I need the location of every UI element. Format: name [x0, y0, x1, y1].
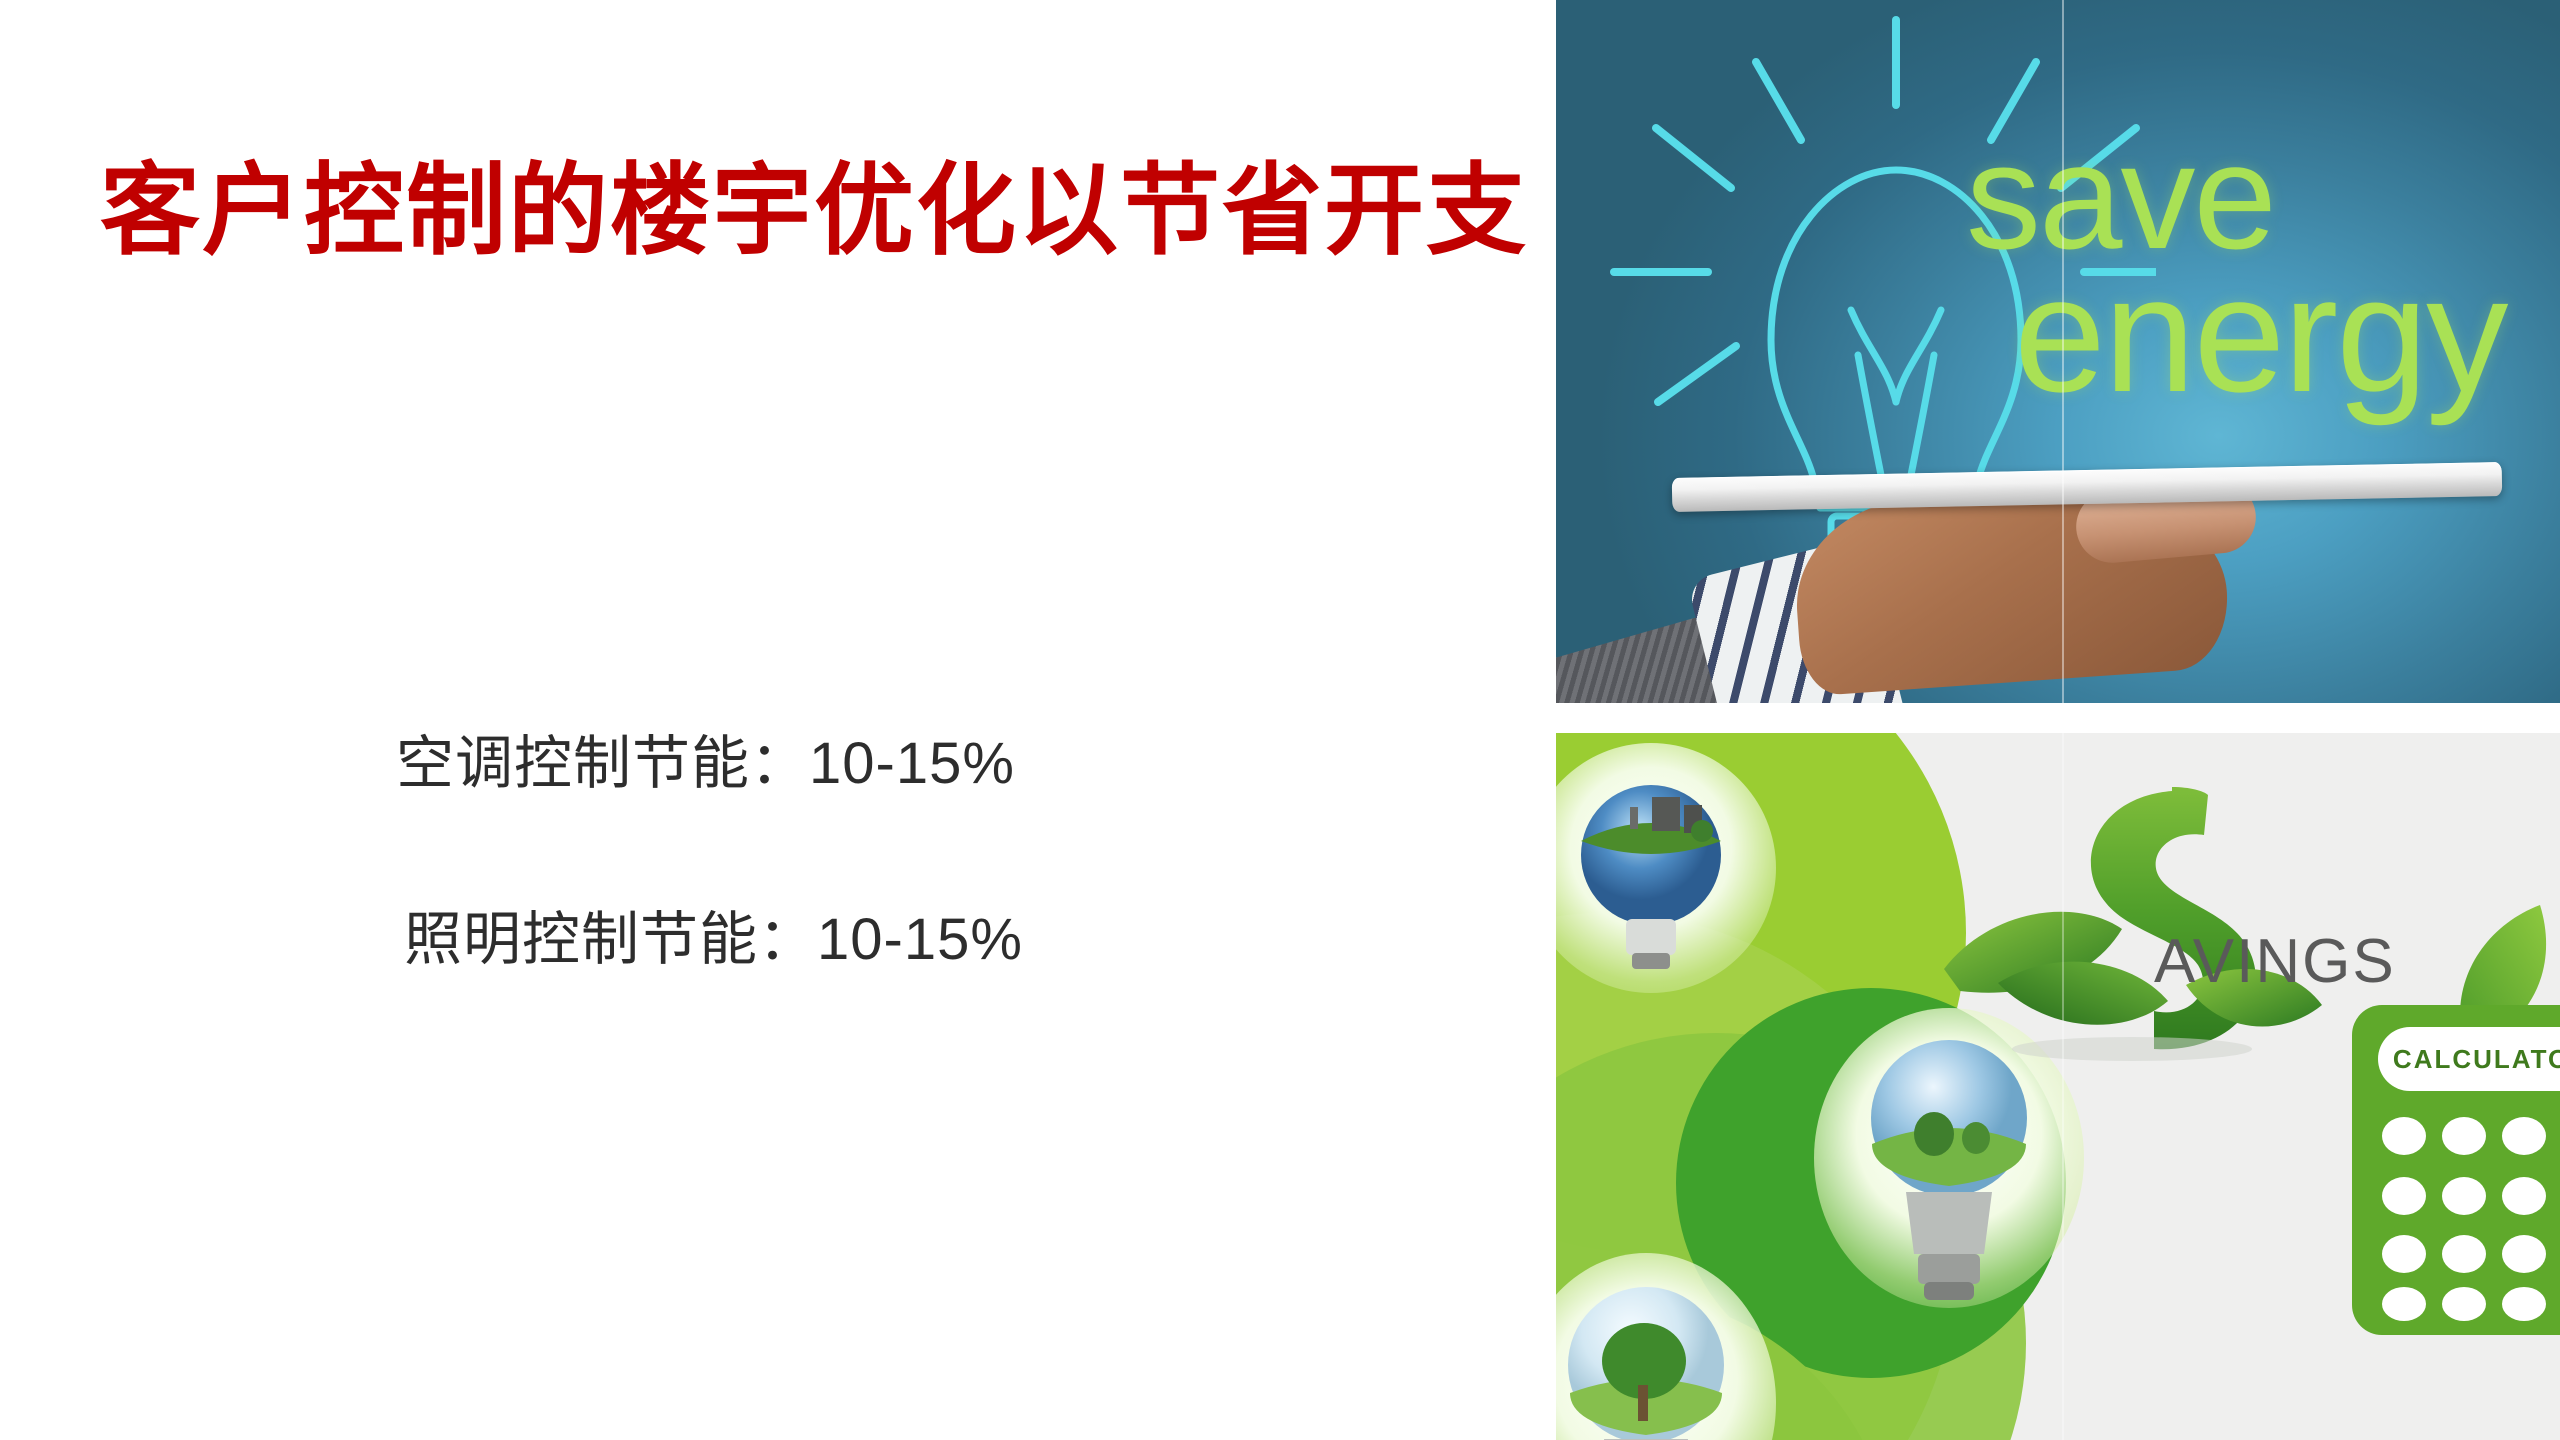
savings-wordmark: AVINGS — [2154, 926, 2396, 997]
calculator-key — [2382, 1177, 2426, 1215]
calculator-key — [2442, 1117, 2486, 1155]
calculator-key — [2442, 1177, 2486, 1215]
body-line-lighting-saving: 照明控制节能：10-15% — [404, 911, 1480, 969]
save-energy-tablet-photo: save energy — [1556, 0, 2560, 703]
calculator-icon: CALCULATOR — [2352, 1005, 2560, 1335]
page-title: 客户控制的楼宇优化以节省开支 — [100, 150, 1500, 272]
body-text-block: 空调控制节能：10-15% 照明控制节能：10-15% — [330, 735, 1480, 969]
calculator-key — [2442, 1287, 2486, 1321]
eco-bulb-earth — [1556, 743, 1776, 993]
calculator-key — [2442, 1235, 2486, 1273]
calculator-key — [2502, 1117, 2546, 1155]
eco-bulb-tree — [1556, 1253, 1776, 1440]
calculator-screen: CALCULATOR — [2378, 1027, 2560, 1091]
dollar-leaves-icon — [1936, 733, 2396, 1113]
calculator-key — [2382, 1117, 2426, 1155]
calculator-key — [2382, 1287, 2426, 1321]
photo-seam-line — [2062, 0, 2064, 703]
earth-bulb-svg — [1556, 743, 1776, 993]
calculator-key — [2502, 1287, 2546, 1321]
headline-line-energy: energy — [2014, 262, 2560, 407]
calculator-key — [2502, 1177, 2546, 1215]
calculator-label: CALCULATOR — [2393, 1044, 2560, 1075]
body-line-hvac-saving: 空调控制节能：10-15% — [396, 735, 1480, 793]
calculator-key — [2382, 1235, 2426, 1273]
presentation-slide: 客户控制的楼宇优化以节省开支 空调控制节能：10-15% 照明控制节能：10-1… — [0, 0, 2560, 1440]
energy-savings-calculator-photo: AVINGS CALCULATOR — [1556, 733, 2560, 1440]
tree-bulb-svg — [1556, 1253, 1776, 1440]
calculator-key — [2502, 1235, 2546, 1273]
save-energy-headline: save energy — [1966, 130, 2560, 407]
photo-seam-line — [2062, 733, 2064, 1440]
